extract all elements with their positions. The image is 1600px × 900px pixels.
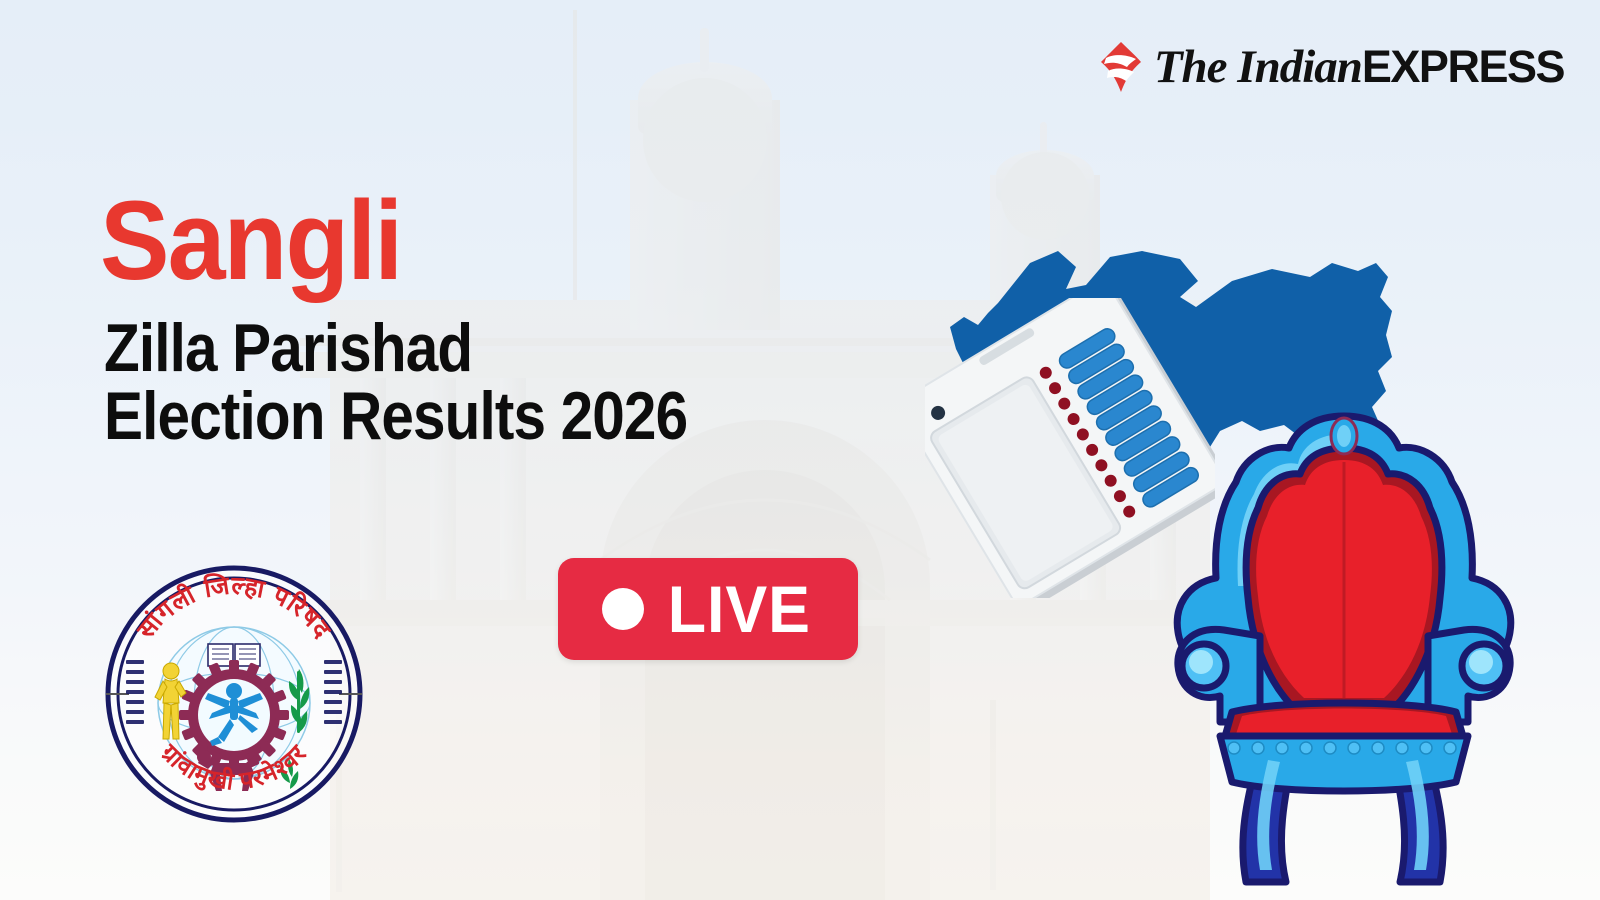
indian-express-ribbon-icon <box>1098 40 1144 94</box>
publisher-masthead[interactable]: The IndianEXPRESS <box>1098 40 1564 94</box>
royal-throne-chair <box>1168 400 1520 900</box>
live-status-badge[interactable]: LIVE <box>558 558 858 660</box>
page-title-district: Sangli <box>100 186 734 296</box>
live-label: LIVE <box>667 576 810 642</box>
page-subtitle-line-2: Election Results 2026 <box>104 380 687 452</box>
poster-canvas: The IndianEXPRESS Sangli Zilla Parishad … <box>0 0 1600 900</box>
publisher-express: EXPRESS <box>1362 41 1564 92</box>
publisher-name: The IndianEXPRESS <box>1154 44 1564 91</box>
live-dot-icon <box>602 588 644 630</box>
page-subtitle-line-1: Zilla Parishad <box>104 312 687 384</box>
sangli-zilla-parishad-emblem: सांगली जिल्हा परिषद ग्रांवामुखी परमेश्वर <box>103 563 365 825</box>
headline-block: Sangli Zilla Parishad Election Results 2… <box>100 186 782 452</box>
